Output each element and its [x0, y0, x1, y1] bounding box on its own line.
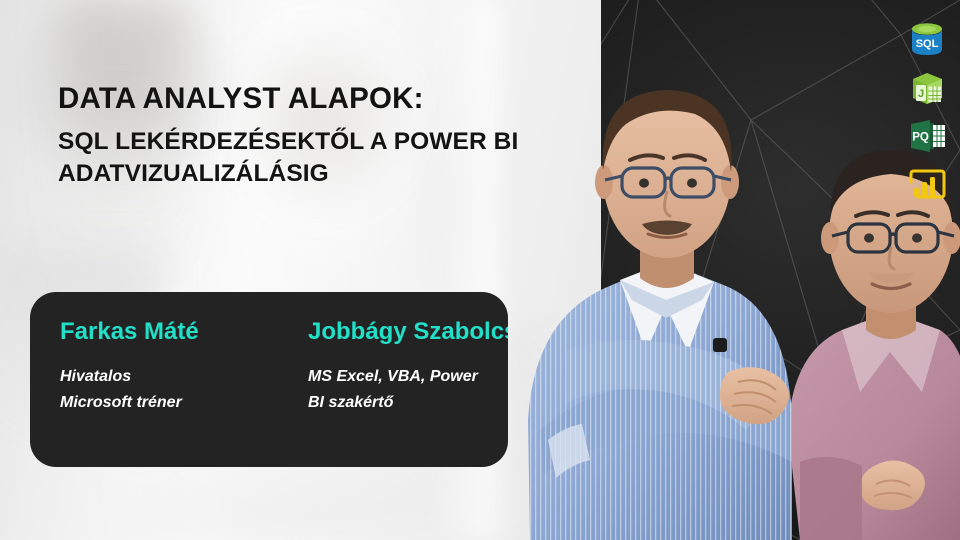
presenter-role-line-2: Microsoft tréner	[60, 390, 268, 416]
presentation-slide: DATA ANALYST ALAPOK: SQL LEKÉRDEZÉSEKTŐL…	[0, 0, 960, 540]
lapel-mic	[713, 338, 727, 352]
power-pivot-icon-glyph: J	[918, 88, 924, 100]
person-left	[528, 90, 792, 540]
presenter-columns: Farkas Máté Hivatalos Microsoft tréner J…	[60, 318, 508, 415]
presenter-photo-group	[470, 0, 960, 540]
power-pivot-icon: J	[904, 68, 950, 108]
sql-icon-label: SQL	[916, 38, 939, 50]
sql-database-icon: SQL	[904, 20, 950, 60]
power-query-icon: PQ	[904, 116, 950, 156]
power-query-icon-label: PQ	[912, 132, 929, 144]
person-right	[788, 150, 960, 540]
presenters-photo	[470, 0, 960, 540]
tech-icon-rail: SQL J	[904, 20, 950, 204]
presenter-role-line-1: Hivatalos	[60, 364, 268, 390]
presenter-card: Farkas Máté Hivatalos Microsoft tréner J…	[30, 292, 508, 467]
presenter-farkas-mate: Farkas Máté Hivatalos Microsoft tréner	[60, 318, 268, 415]
power-bi-icon	[904, 164, 950, 204]
presenter-name: Farkas Máté	[60, 318, 268, 346]
